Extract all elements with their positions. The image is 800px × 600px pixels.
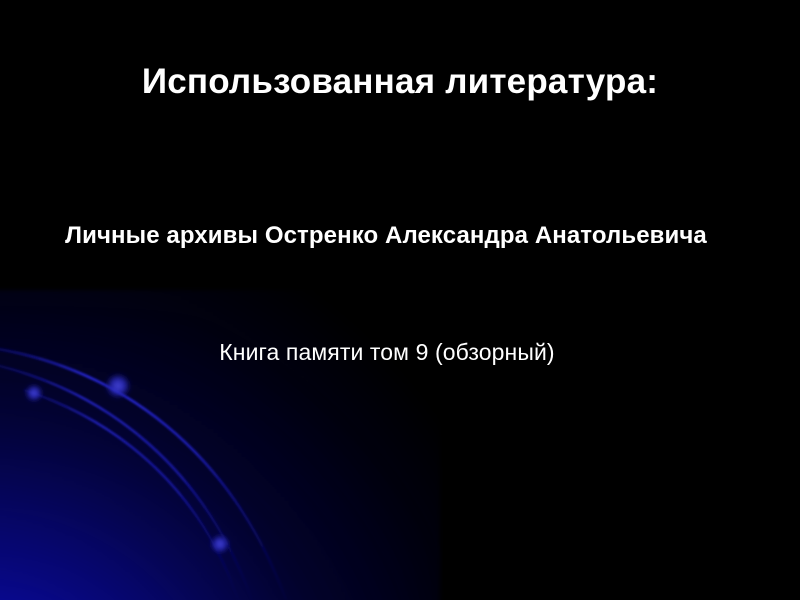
presentation-slide: Использованная литература: Личные архивы… [0,0,800,600]
slide-title: Использованная литература: [0,62,800,102]
source-item-memory-book: Книга памяти том 9 (обзорный) [0,339,787,366]
source-item-personal-archives: Личные архивы Остренко Александра Анатол… [0,222,786,250]
slide-content: Использованная литература: Личные архивы… [0,0,800,600]
